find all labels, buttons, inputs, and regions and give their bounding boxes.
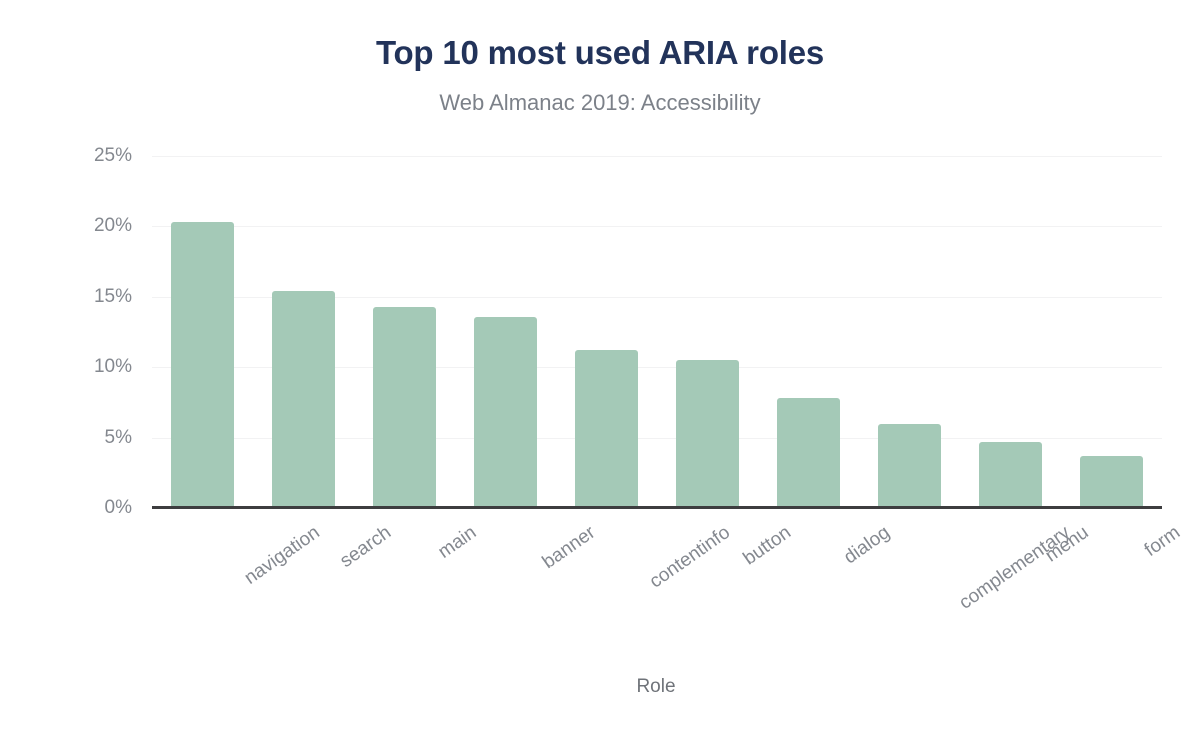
x-tick-label: main: [434, 522, 480, 564]
y-tick-label: 5%: [52, 427, 132, 449]
bar[interactable]: [373, 307, 436, 508]
y-tick: 10%: [52, 367, 132, 368]
bar[interactable]: [777, 398, 840, 508]
plot-area: [152, 156, 1162, 508]
chart-subtitle: Web Almanac 2019: Accessibility: [0, 90, 1200, 116]
y-tick: 25%: [52, 156, 132, 157]
x-axis-title: Role: [150, 676, 1162, 698]
gridline: [152, 156, 1162, 157]
bar[interactable]: [676, 360, 739, 508]
x-tick-label: navigation: [240, 522, 324, 590]
bar[interactable]: [474, 317, 537, 508]
bar[interactable]: [1080, 456, 1143, 508]
chart-title: Top 10 most used ARIA roles: [0, 34, 1200, 72]
x-tick-label: button: [739, 522, 795, 570]
x-tick-label: dialog: [840, 522, 894, 569]
y-tick-label: 20%: [52, 215, 132, 237]
x-tick-label: contentinfo: [645, 522, 734, 593]
x-tick-label: search: [336, 522, 395, 573]
chart-container: Top 10 most used ARIA roles Web Almanac …: [0, 0, 1200, 742]
x-tick-label: banner: [538, 522, 599, 574]
bar[interactable]: [575, 350, 638, 508]
y-tick-label: 0%: [52, 497, 132, 519]
x-tick-label: complementary: [955, 522, 1074, 615]
gridline: [152, 226, 1162, 227]
y-tick-label: 15%: [52, 286, 132, 308]
y-tick: 0%: [52, 508, 132, 509]
bar[interactable]: [878, 424, 941, 508]
y-tick: 5%: [52, 438, 132, 439]
x-tick-label: form: [1140, 522, 1184, 562]
bar[interactable]: [272, 291, 335, 508]
x-axis-line: [152, 506, 1162, 509]
bar[interactable]: [979, 442, 1042, 508]
y-tick-label: 25%: [52, 145, 132, 167]
y-tick: 15%: [52, 297, 132, 298]
y-tick: 20%: [52, 226, 132, 227]
y-tick-label: 10%: [52, 356, 132, 378]
bar[interactable]: [171, 222, 234, 508]
